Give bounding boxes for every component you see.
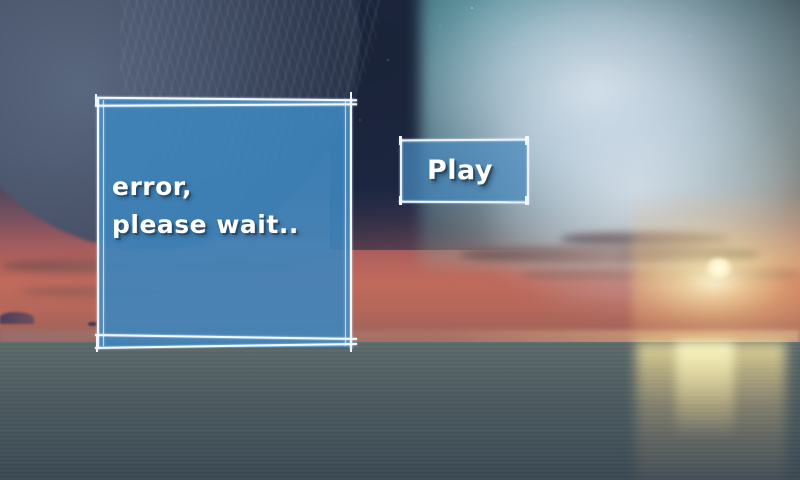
error-dialog-corner-tick-top-right: [350, 92, 352, 106]
play-button-border-bottom: [399, 201, 529, 204]
error-dialog-border-left-outer: [97, 99, 99, 349]
error-dialog-corner-tick-bottom-left: [96, 334, 98, 352]
error-dialog-corner-tick-top-left: [95, 94, 97, 106]
play-button-label: Play: [427, 155, 493, 186]
error-dialog-corner-tick-bottom-right: [350, 332, 352, 352]
play-button-corner-tick-bottom-left: [399, 196, 402, 205]
error-dialog-border-left-inner: [103, 100, 104, 346]
app-screen: error, please wait.. Play: [0, 0, 800, 480]
error-message-text: error, please wait..: [112, 168, 362, 244]
play-button-border-left: [400, 139, 402, 203]
ui-overlay: error, please wait.. Play: [0, 0, 800, 480]
play-button-border-right: [527, 139, 529, 203]
play-button-corner-tick-top-left: [399, 136, 402, 145]
play-button-corner-tick-top-right: [525, 136, 529, 145]
play-button-corner-tick-bottom-right: [525, 196, 529, 205]
